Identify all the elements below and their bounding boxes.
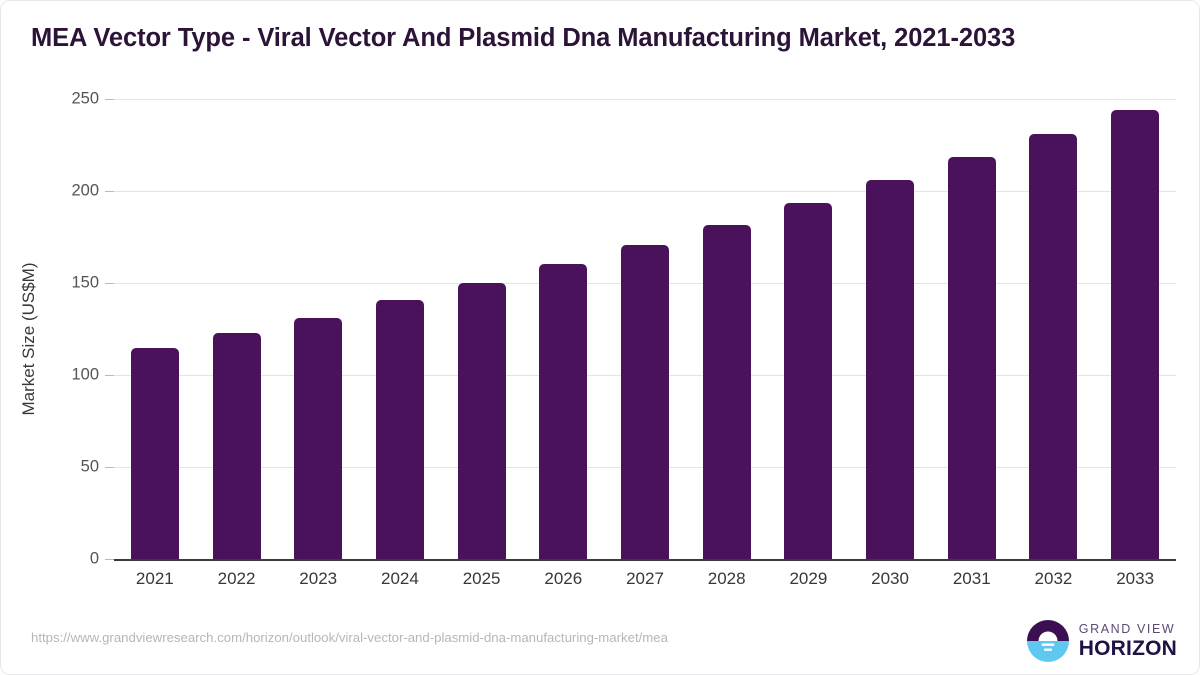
bar[interactable] <box>948 157 996 559</box>
y-tick-label: 150 <box>71 274 99 293</box>
x-tick-label: 2027 <box>605 569 685 589</box>
x-tick-label: 2025 <box>442 569 522 589</box>
bar[interactable] <box>866 180 914 559</box>
x-tick-label: 2032 <box>1013 569 1093 589</box>
x-tick-label: 2033 <box>1095 569 1175 589</box>
x-tick-label: 2022 <box>197 569 277 589</box>
x-tick-label: 2026 <box>523 569 603 589</box>
x-tick-label: 2024 <box>360 569 440 589</box>
y-tick-mark <box>105 375 114 376</box>
chart-card: MEA Vector Type - Viral Vector And Plasm… <box>0 0 1200 675</box>
page-title: MEA Vector Type - Viral Vector And Plasm… <box>31 24 1015 53</box>
y-tick-label: 200 <box>71 182 99 201</box>
x-tick-label: 2023 <box>278 569 358 589</box>
y-tick-label: 250 <box>71 90 99 109</box>
y-tick-mark <box>105 191 114 192</box>
bar[interactable] <box>539 264 587 559</box>
grand-view-horizon-logo[interactable]: GRAND VIEW HORIZON <box>1026 619 1177 663</box>
y-tick-label: 100 <box>71 366 99 385</box>
y-tick-mark <box>105 467 114 468</box>
source-url[interactable]: https://www.grandviewresearch.com/horizo… <box>31 630 668 645</box>
y-axis-ticks: 050100150200250 <box>1 1 99 675</box>
bar[interactable] <box>131 348 179 559</box>
bar[interactable] <box>458 283 506 559</box>
bar[interactable] <box>213 333 261 559</box>
horizon-sun-icon <box>1026 619 1070 663</box>
y-axis-title: Market Size (US$M) <box>19 119 39 559</box>
bar[interactable] <box>1111 110 1159 559</box>
logo-line-1: GRAND VIEW <box>1079 623 1177 636</box>
y-tick-label: 50 <box>81 458 99 477</box>
logo-line-2: HORIZON <box>1079 638 1177 659</box>
y-tick-label: 0 <box>90 550 99 569</box>
x-tick-label: 2029 <box>768 569 848 589</box>
y-tick-mark <box>105 99 114 100</box>
bar-series <box>114 99 1176 559</box>
x-tick-label: 2030 <box>850 569 930 589</box>
logo-wordmark: GRAND VIEW HORIZON <box>1079 623 1177 660</box>
y-tick-mark <box>105 283 114 284</box>
bar[interactable] <box>621 245 669 559</box>
bar[interactable] <box>294 318 342 559</box>
x-tick-label: 2021 <box>115 569 195 589</box>
bar[interactable] <box>784 203 832 559</box>
bar[interactable] <box>376 300 424 559</box>
bar[interactable] <box>1029 134 1077 559</box>
y-tick-mark <box>105 559 114 560</box>
x-axis-line <box>114 559 1176 561</box>
x-tick-label: 2028 <box>687 569 767 589</box>
x-tick-label: 2031 <box>932 569 1012 589</box>
bar[interactable] <box>703 225 751 560</box>
